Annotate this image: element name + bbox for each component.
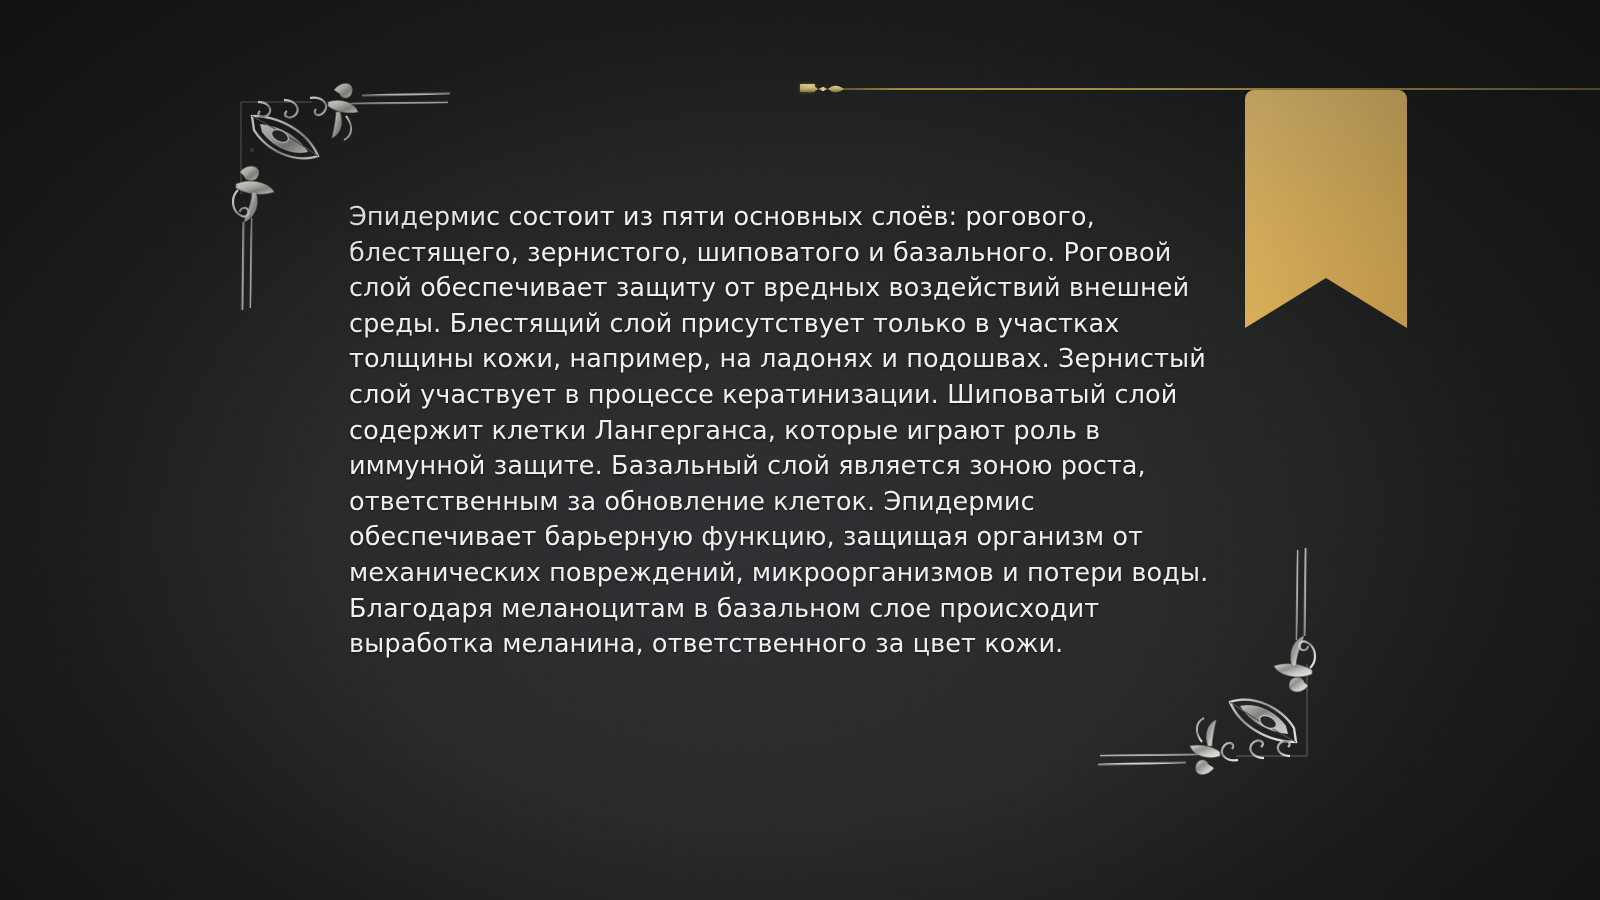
gold-bookmark-ribbon [1245, 90, 1407, 328]
slide-canvas: Эпидермис состоит из пяти основных слоёв… [0, 0, 1600, 900]
gold-spindle-ornament [801, 83, 845, 95]
gold-horizontal-rule [838, 88, 1600, 90]
body-paragraph: Эпидермис состоит из пяти основных слоёв… [349, 200, 1221, 663]
